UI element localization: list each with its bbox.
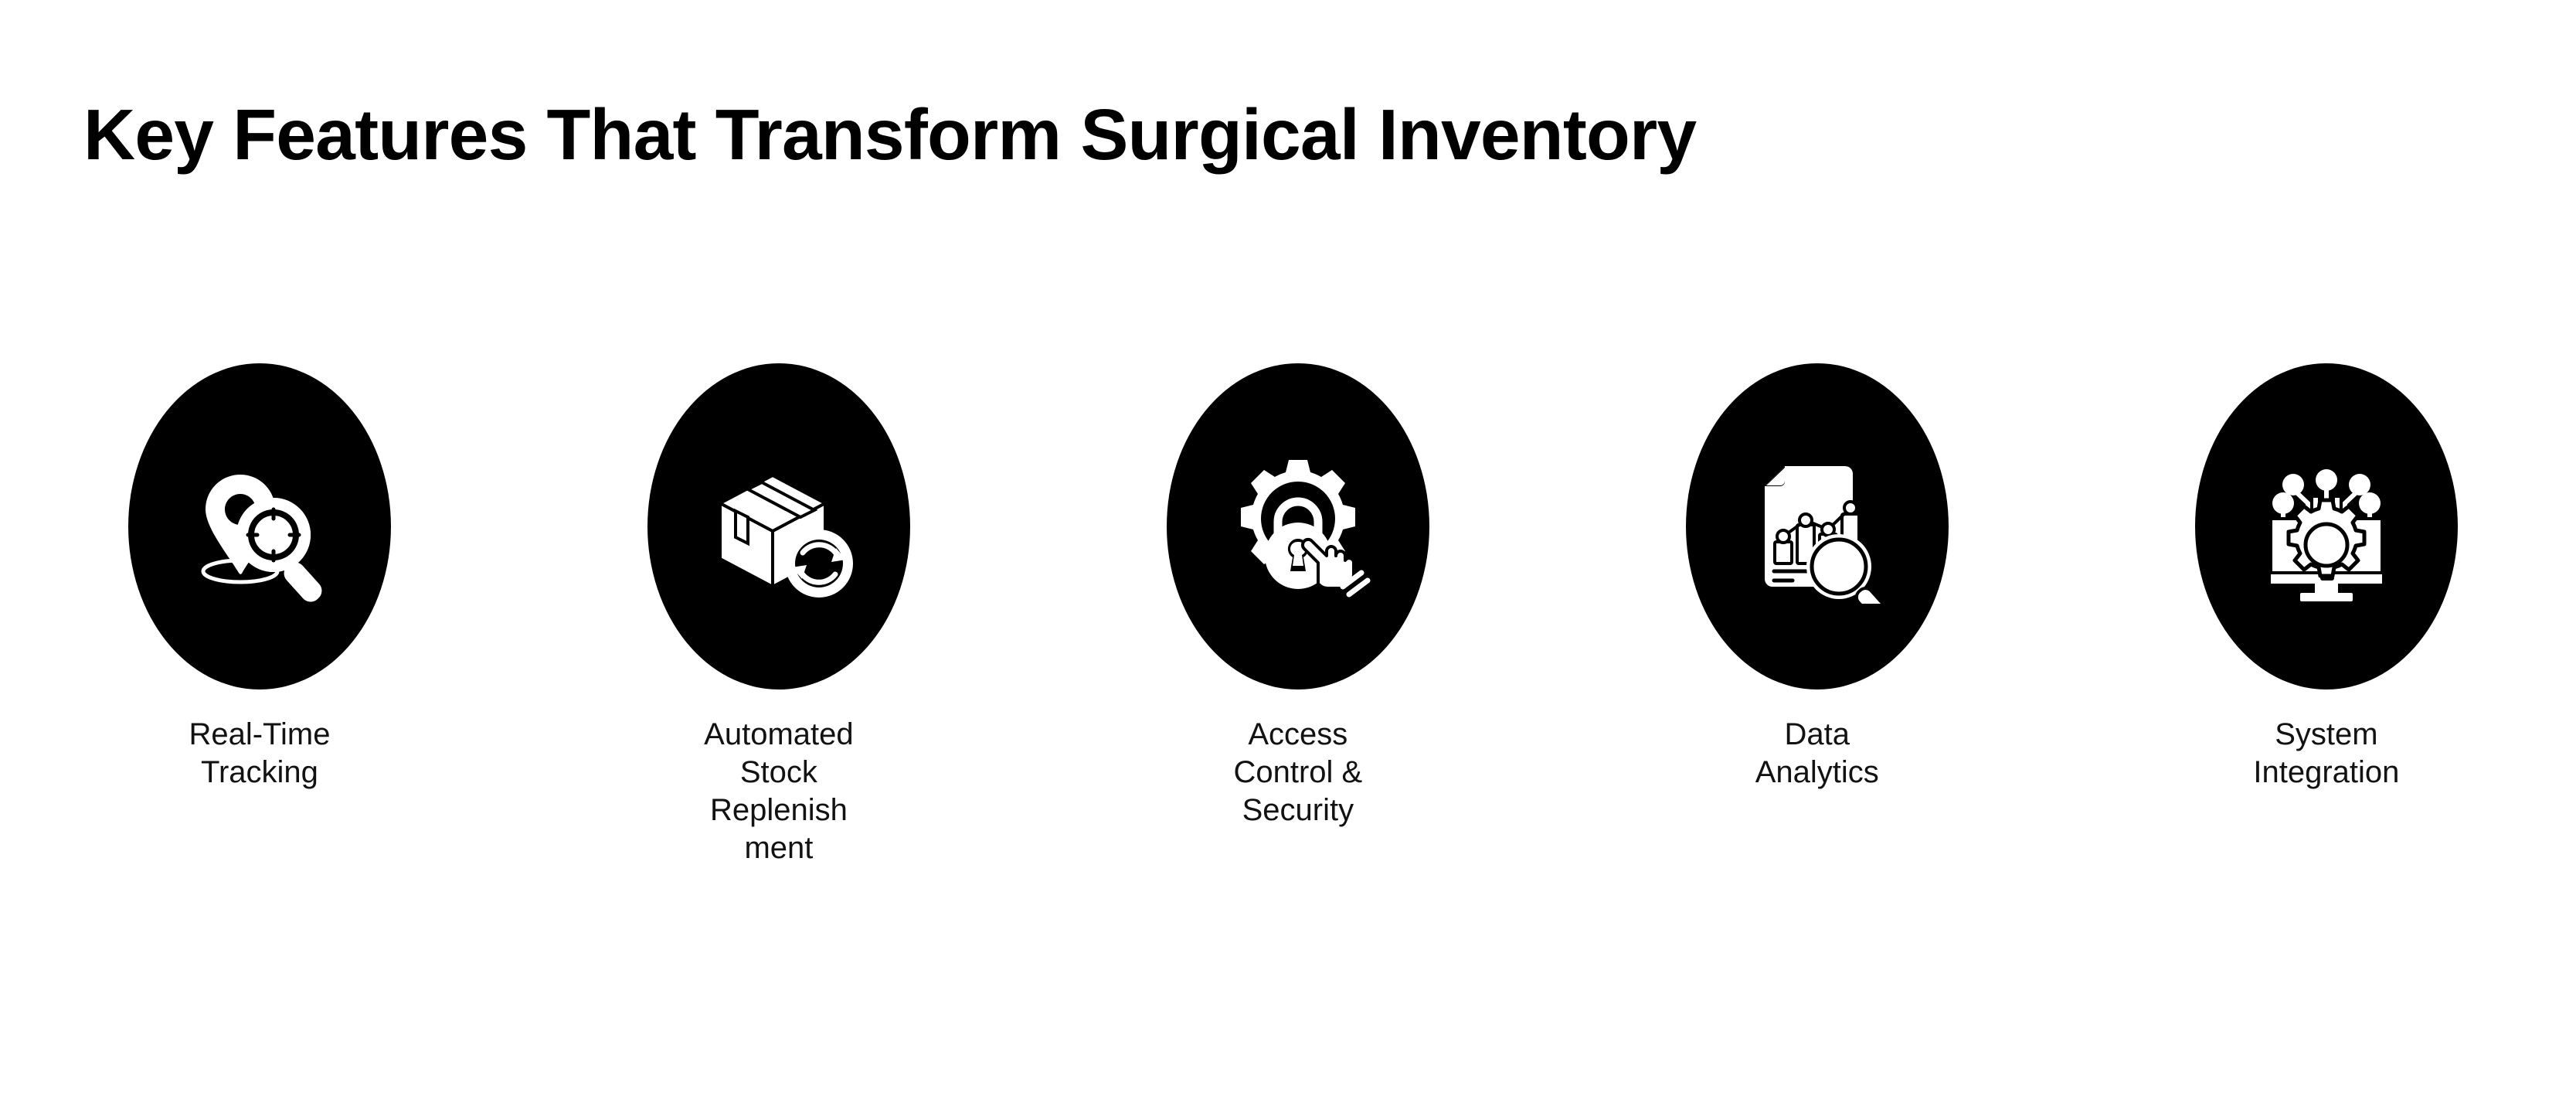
feature-label: Data Analytics xyxy=(1745,716,1888,792)
feature-item[interactable]: Data Analytics xyxy=(1558,363,2077,792)
feature-list: Real-Time Tracking xyxy=(0,363,2576,867)
feature-label: System Integration xyxy=(2222,716,2431,792)
feature-icon-badge xyxy=(1686,363,1949,690)
report-chart-magnifier-icon xyxy=(1740,449,1895,604)
gear-padlock-hand-icon xyxy=(1221,449,1375,604)
feature-item[interactable]: Automated Stock Replenishment xyxy=(519,363,1038,867)
feature-item[interactable]: Access Control & Security xyxy=(1038,363,1558,829)
feature-label: Real-Time Tracking xyxy=(167,716,352,792)
feature-icon-badge xyxy=(1167,363,1429,690)
feature-label: Automated Stock Replenishment xyxy=(702,716,856,867)
feature-icon-badge xyxy=(128,363,391,690)
feature-icon-badge xyxy=(2195,363,2458,690)
feature-icon-badge xyxy=(647,363,910,690)
feature-item[interactable]: System Integration xyxy=(2077,363,2576,792)
feature-item[interactable]: Real-Time Tracking xyxy=(0,363,519,792)
infographic-canvas: Key Features That Transform Surgical Inv… xyxy=(0,0,2576,1093)
feature-label: Access Control & Security xyxy=(1215,716,1381,829)
page-title: Key Features That Transform Surgical Inv… xyxy=(83,93,2494,178)
monitor-gear-network-icon xyxy=(2249,449,2404,604)
box-refresh-icon xyxy=(702,449,856,604)
location-pin-magnifier-icon xyxy=(182,449,337,604)
